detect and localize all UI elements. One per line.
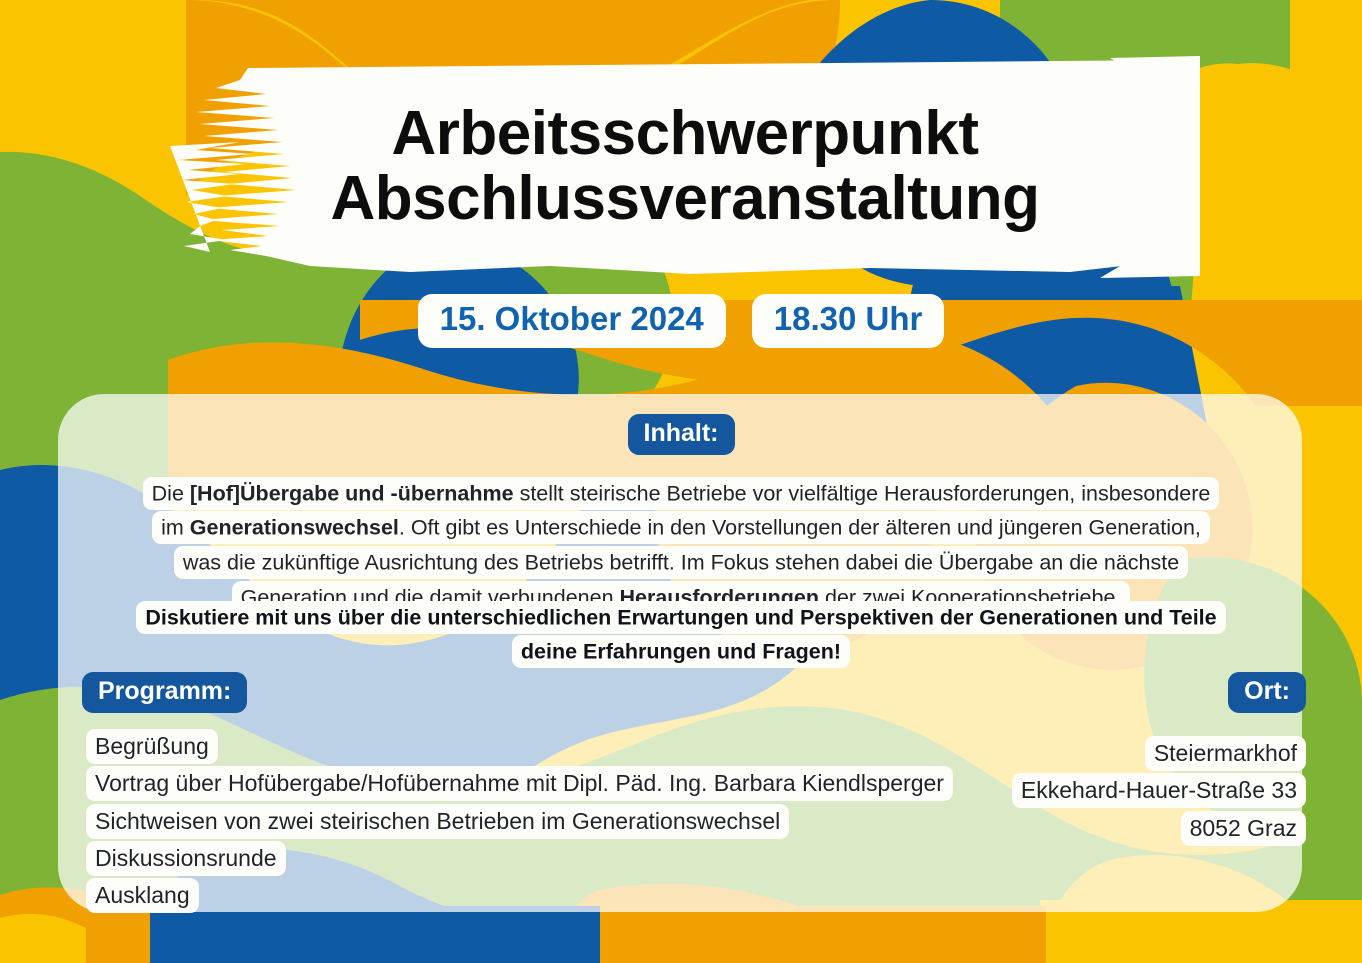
- para-l1-pre: Die: [152, 481, 190, 505]
- venue-line: 8052 Graz: [886, 810, 1306, 847]
- date-time-chips: 15. Oktober 2024 18.30 Uhr: [0, 294, 1362, 348]
- programm-label: Programm:: [82, 672, 247, 713]
- inhalt-label-wrap: Inhalt:: [0, 414, 1362, 455]
- programm-item: Sichtweisen von zwei steirischen Betrieb…: [86, 803, 986, 840]
- event-poster: Arbeitsschwerpunkt Abschlussveranstaltun…: [0, 0, 1362, 963]
- venue-line: Steiermarkhof: [886, 735, 1306, 772]
- programm-list: Begrüßung Vortrag über Hofübergabe/Hofüb…: [86, 728, 986, 914]
- inhalt-label: Inhalt:: [628, 414, 735, 455]
- programm-item-text: Vortrag über Hofübergabe/Hofübernahme mi…: [86, 766, 953, 801]
- date-chip: 15. Oktober 2024: [418, 294, 726, 348]
- title-line-2: Abschlussveranstaltung: [330, 167, 1039, 230]
- programm-item: Diskussionsrunde: [86, 840, 986, 877]
- para-l1-bold: [Hof]Übergabe und -übernahme: [190, 481, 514, 505]
- programm-item-text: Ausklang: [86, 878, 199, 913]
- paragraph-line-3: was die zukünftige Ausrichtung des Betri…: [110, 546, 1252, 581]
- para-l2-bold: Generationswechsel: [190, 516, 399, 540]
- para-l2-post: . Oft gibt es Unterschiede in den Vorste…: [399, 516, 1201, 540]
- venue-address: Steiermarkhof Ekkehard-Hauer-Straße 33 8…: [886, 735, 1306, 847]
- venue-street: Ekkehard-Hauer-Straße 33: [1012, 773, 1306, 808]
- ort-label: Ort:: [1228, 672, 1306, 713]
- venue-city: 8052 Graz: [1181, 811, 1306, 846]
- content-paragraph: Die [Hof]Übergabe und -übernahme stellt …: [110, 476, 1252, 615]
- ort-label-wrap: Ort:: [1228, 672, 1306, 713]
- programm-item-text: Sichtweisen von zwei steirischen Betrieb…: [86, 804, 789, 839]
- para-l1-post: stellt steirische Betriebe vor vielfälti…: [514, 481, 1211, 505]
- paragraph-line-2: im Generationswechsel. Oft gibt es Unter…: [110, 511, 1252, 546]
- title-line-1: Arbeitsschwerpunkt: [391, 102, 978, 165]
- cta-line-2: deine Erfahrungen und Fragen!: [110, 635, 1252, 670]
- cta-line-1-text: Diskutiere mit uns über die unterschiedl…: [136, 601, 1225, 634]
- para-l3: was die zukünftige Ausrichtung des Betri…: [183, 551, 1179, 575]
- cta-line-2-text: deine Erfahrungen und Fragen!: [512, 635, 850, 668]
- paragraph-line-1: Die [Hof]Übergabe und -übernahme stellt …: [110, 476, 1252, 511]
- time-chip: 18.30 Uhr: [752, 294, 945, 348]
- programm-item: Begrüßung: [86, 728, 986, 765]
- programm-item-text: Begrüßung: [86, 729, 218, 764]
- venue-line: Ekkehard-Hauer-Straße 33: [886, 772, 1306, 809]
- title-banner: Arbeitsschwerpunkt Abschlussveranstaltun…: [170, 50, 1200, 282]
- programm-item-text: Diskussionsrunde: [86, 841, 286, 876]
- programm-label-wrap: Programm:: [82, 672, 247, 713]
- programm-item: Vortrag über Hofübergabe/Hofübernahme mi…: [86, 765, 986, 802]
- poster-title: Arbeitsschwerpunkt Abschlussveranstaltun…: [170, 50, 1200, 282]
- call-to-action: Diskutiere mit uns über die unterschiedl…: [110, 600, 1252, 670]
- programm-item: Ausklang: [86, 877, 986, 914]
- venue-name: Steiermarkhof: [1145, 736, 1306, 771]
- para-l2-pre: im: [161, 516, 190, 540]
- cta-line-1: Diskutiere mit uns über die unterschiedl…: [110, 600, 1252, 635]
